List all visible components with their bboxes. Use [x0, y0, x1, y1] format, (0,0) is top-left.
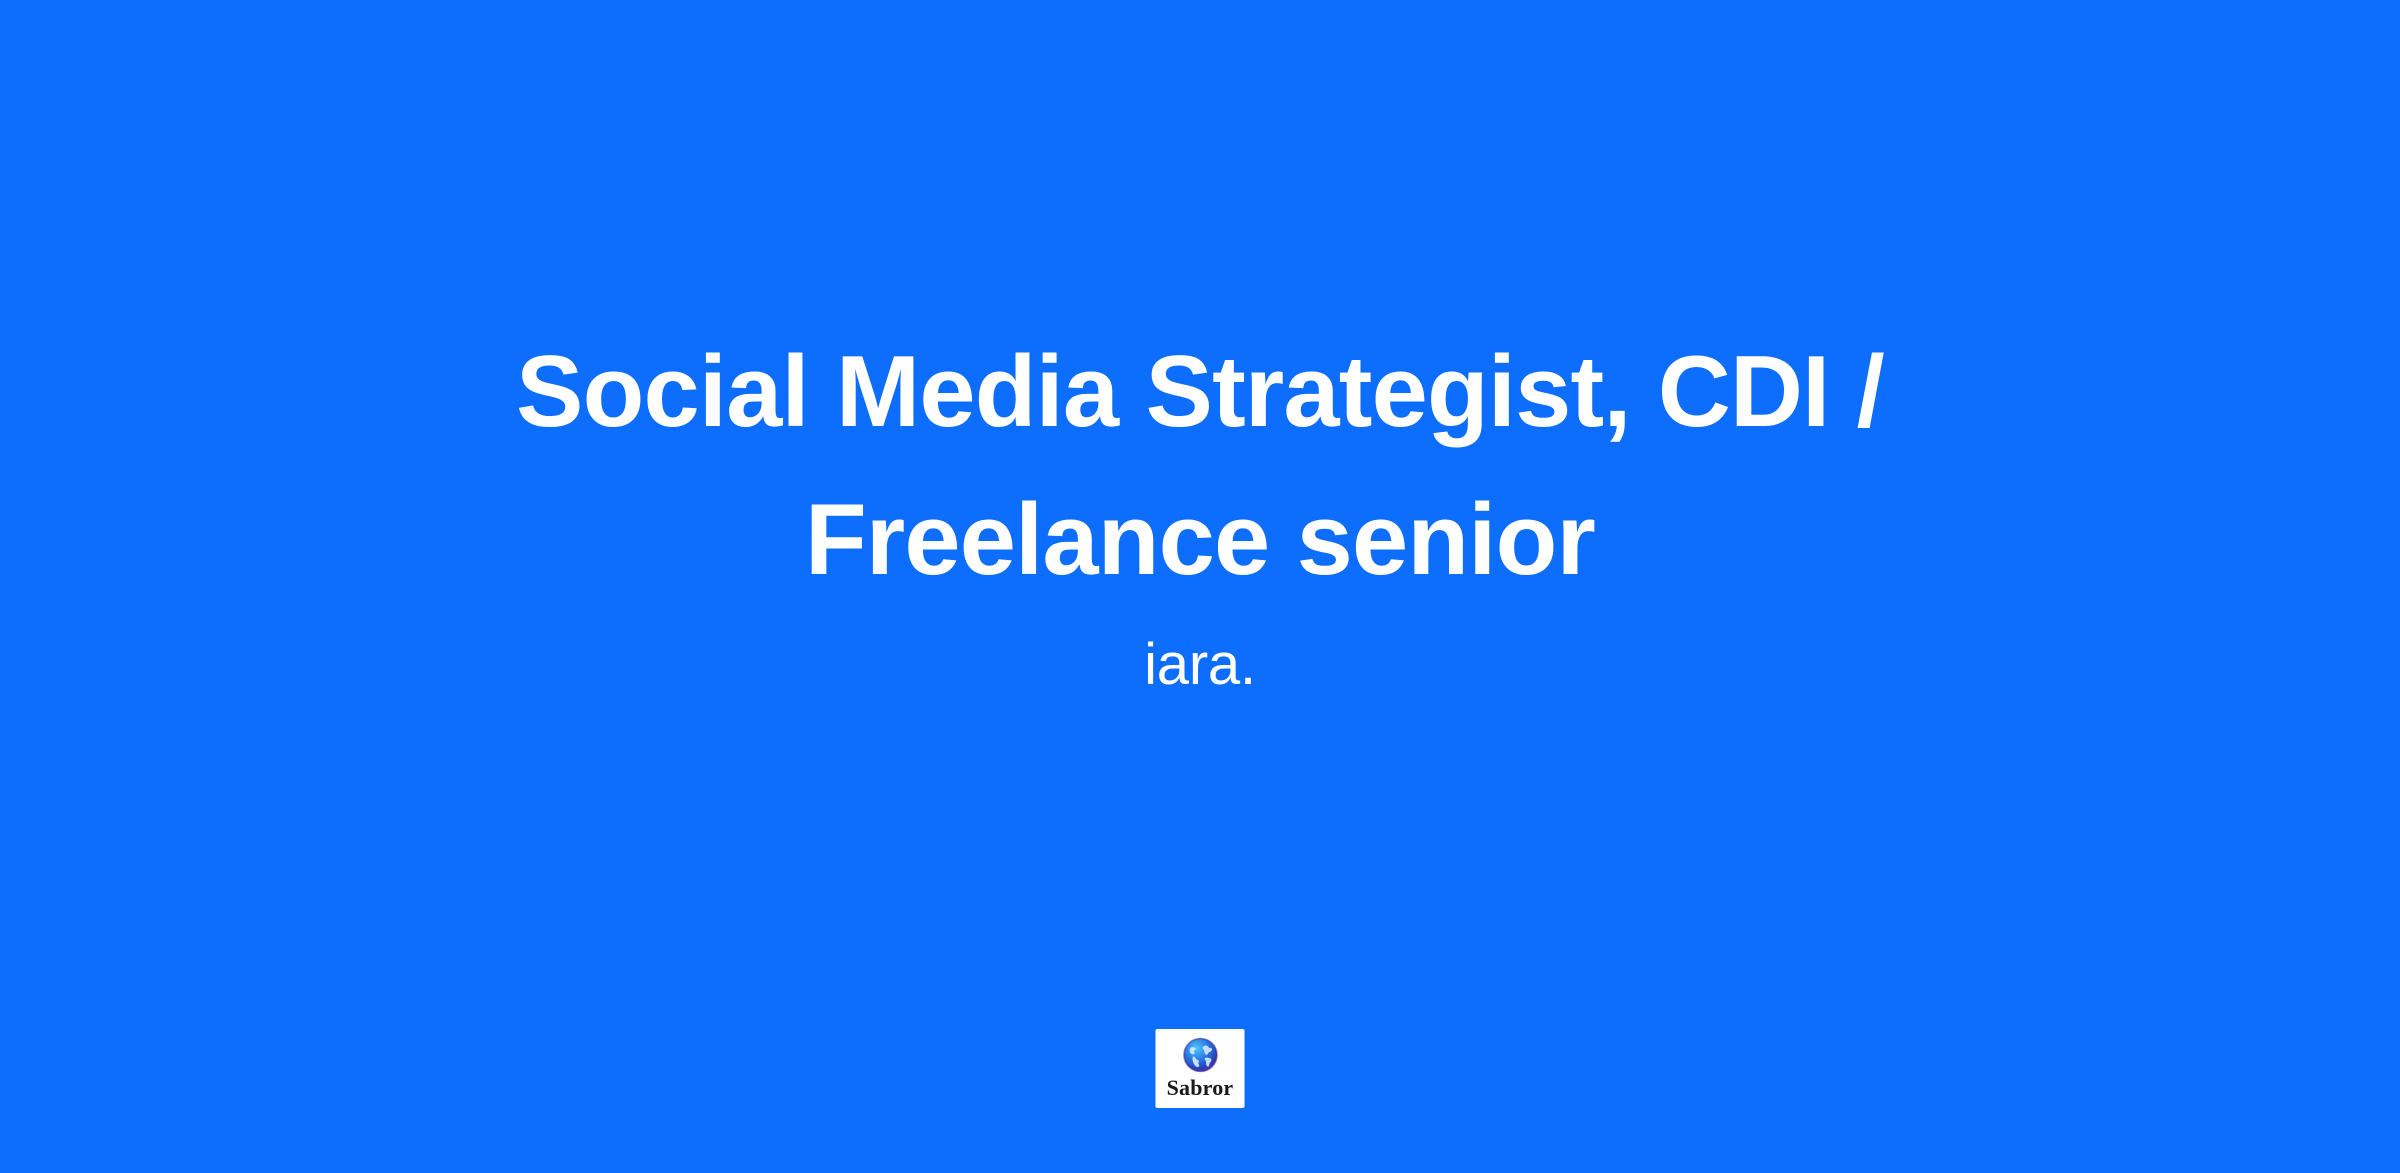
page-title: Social Media Strategist, CDI / Freelance…: [390, 318, 2010, 615]
globe-icon: [1178, 1034, 1222, 1076]
logo-wordmark: Sabror: [1167, 1077, 1234, 1099]
job-posting-card: Social Media Strategist, CDI / Freelance…: [0, 0, 2400, 1173]
company-name: iara.: [1144, 627, 1256, 702]
brand-logo[interactable]: Sabror: [1156, 1029, 1245, 1108]
headline-block: Social Media Strategist, CDI / Freelance…: [0, 318, 2400, 702]
